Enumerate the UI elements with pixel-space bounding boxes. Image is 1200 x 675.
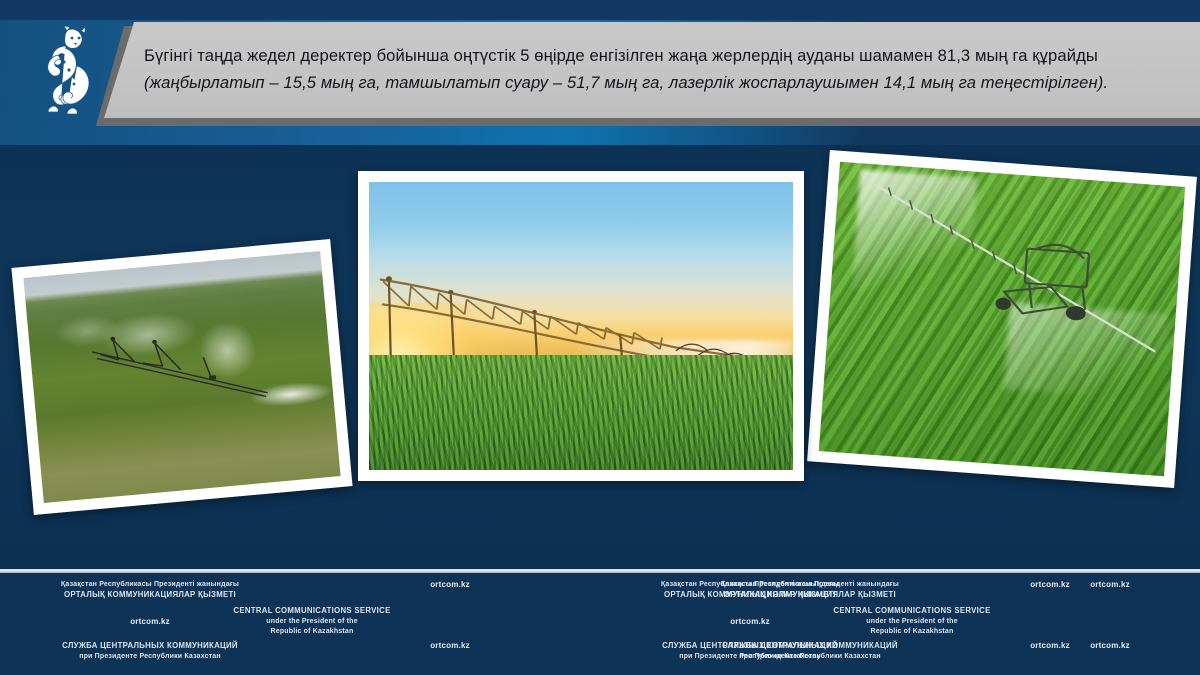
photo-sprinkler-alfalfa-field-image — [23, 251, 340, 503]
watermark-kz-line1: Қазақстан Республикасы Президенті жанынд… — [0, 580, 300, 590]
watermark-ru-line1: СЛУЖБА ЦЕНТРАЛЬНЫХ КОММУНИКАЦИЙ — [0, 641, 300, 652]
watermark-row-russian: СЛУЖБА ЦЕНТРАЛЬНЫХ КОММУНИКАЦИЙ при През… — [660, 641, 1200, 661]
photo-pivot-irrigation-sunset-cornfield-image — [369, 182, 793, 470]
watermark-url: ortcom.kz — [960, 641, 1200, 661]
statement-regular-part: Бүгінгі таңда жедел деректер бойынша оңт… — [144, 46, 1098, 65]
watermark-url: ortcom.kz — [600, 617, 900, 626]
statement-italic-part: (жаңбырлатып – 15,5 мың га, тамшылатып с… — [144, 73, 1108, 92]
watermark-ru-line2: при Президенте Республики Казахстан — [0, 652, 300, 662]
cornfield-foreground — [369, 355, 793, 470]
slide-footer-watermark: Қазақстан Республикасы Президенті жанынд… — [0, 573, 1200, 675]
watermark-url: ortcom.kz — [0, 617, 300, 626]
watermark-url-spacer — [900, 617, 1200, 626]
photo-aerial-pivot-irrigation-crop-rows — [807, 150, 1197, 488]
watermark-block-russian: СЛУЖБА ЦЕНТРАЛЬНЫХ КОММУНИКАЦИЙ при През… — [0, 641, 300, 661]
watermark-kz-line1: Қазақстан Республикасы Президенті жанынд… — [660, 580, 960, 590]
footer-divider — [0, 569, 1200, 573]
watermark-block-russian: СЛУЖБА ЦЕНТРАЛЬНЫХ КОММУНИКАЦИЙ при През… — [660, 641, 960, 661]
watermark-url-spacer — [300, 617, 600, 626]
photo-aerial-pivot-irrigation-crop-rows-image — [819, 162, 1185, 477]
watermark-en-line3: Republic of Kazakhstan — [162, 627, 462, 637]
watermark-url: ortcom.kz — [960, 580, 1200, 600]
watermark-ru-line1: СЛУЖБА ЦЕНТРАЛЬНЫХ КОММУНИКАЦИЙ — [660, 641, 960, 652]
watermark-ru-line2: при Президенте Республики Казахстан — [660, 652, 960, 662]
watermark-kz-line2: ОРТАЛЫҚ КОММУНИКАЦИЯЛАР ҚЫЗМЕТІ — [0, 590, 300, 601]
header-top-strip — [0, 0, 1200, 20]
watermark-en-line1: CENTRAL COMMUNICATIONS SERVICE — [762, 606, 1062, 617]
photo-pivot-irrigation-sunset-cornfield — [358, 171, 804, 481]
watermark-en-line1: CENTRAL COMMUNICATIONS SERVICE — [162, 606, 462, 617]
watermark-row-urls: ortcom.kz ortcom.kz — [0, 617, 1200, 626]
presentation-slide: Бүгінгі таңда жедел деректер бойынша оңт… — [0, 0, 1200, 675]
watermark-block-kazakh: Қазақстан Республикасы Президенті жанынд… — [660, 580, 960, 600]
lateral-move-sprinkler-icon — [831, 174, 1177, 401]
watermark-block-kazakh: Қазақстан Республикасы Президенті жанынд… — [0, 580, 300, 600]
photo-sprinkler-alfalfa-field — [11, 239, 352, 515]
watermark-kz-line2: ОРТАЛЫҚ КОММУНИКАЦИЯЛАР ҚЫЗМЕТІ — [660, 590, 960, 601]
slide-body — [0, 145, 1200, 572]
sprinkler-machine-icon — [82, 316, 286, 419]
watermark-row-kazakh: Қазақстан Республикасы Президенті жанынд… — [660, 580, 1200, 600]
header-statement-banner: Бүгінгі таңда жедел деректер бойынша оңт… — [104, 22, 1200, 118]
watermark-url: ortcom.kz — [300, 580, 600, 600]
watermark-url: ortcom.kz — [300, 641, 600, 661]
snow-leopard-emblem — [28, 22, 98, 118]
header-statement-text: Бүгінгі таңда жедел деректер бойынша оңт… — [144, 43, 1182, 96]
slide-header: Бүгінгі таңда жедел деректер бойынша оңт… — [0, 0, 1200, 145]
watermark-en-line3: Republic of Kazakhstan — [762, 627, 1062, 637]
